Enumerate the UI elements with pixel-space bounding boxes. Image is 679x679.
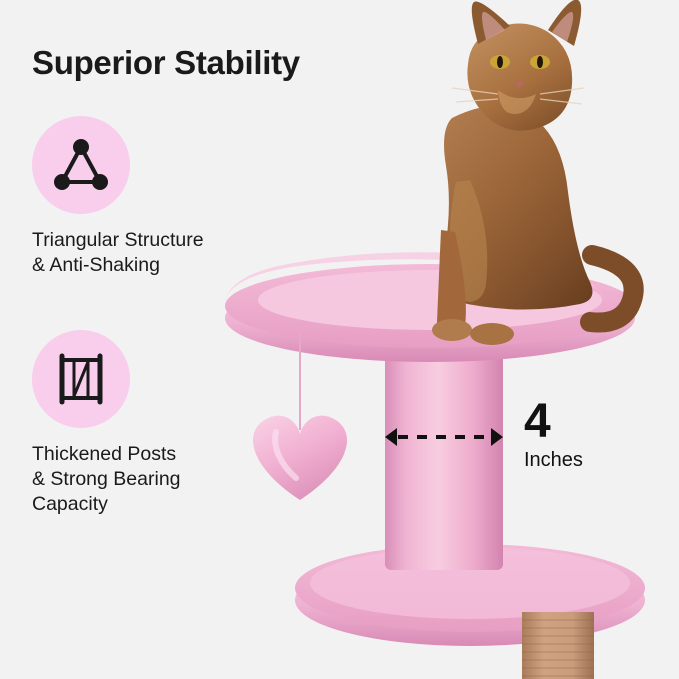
page-title: Superior Stability [32, 44, 300, 82]
center-post [385, 318, 503, 570]
thickened-post-badge [32, 330, 130, 428]
hanging-heart-toy [253, 330, 347, 500]
dimension-marker [385, 428, 503, 446]
feature-1-text: Triangular Structure & Anti-Shaking [32, 228, 262, 278]
dimension-value: 4 [524, 398, 551, 446]
feature-2-line-2: & Strong Bearing [32, 467, 262, 492]
feature-1-line-1: Triangular Structure [32, 228, 262, 253]
feature-2-line-1: Thickened Posts [32, 442, 262, 467]
triangle-structure-icon [32, 116, 130, 214]
feature-2-text: Thickened Posts & Strong Bearing Capacit… [32, 442, 262, 517]
feature-1-line-2: & Anti-Shaking [32, 253, 262, 278]
top-platform [225, 252, 635, 362]
abyssinian-cat [432, 0, 634, 345]
sisal-post [522, 612, 594, 679]
dimension-unit: Inches [524, 449, 583, 472]
thickened-post-icon [32, 330, 130, 428]
feature-block-thickened-posts: Thickened Posts & Strong Bearing Capacit… [32, 330, 262, 517]
feature-2-line-3: Capacity [32, 492, 262, 517]
product-feature-image: Superior Stability Triangular Structure … [0, 0, 679, 679]
feature-block-triangular-structure: Triangular Structure & Anti-Shaking [32, 116, 262, 278]
triangle-structure-badge [32, 116, 130, 214]
lower-platform [295, 544, 645, 646]
